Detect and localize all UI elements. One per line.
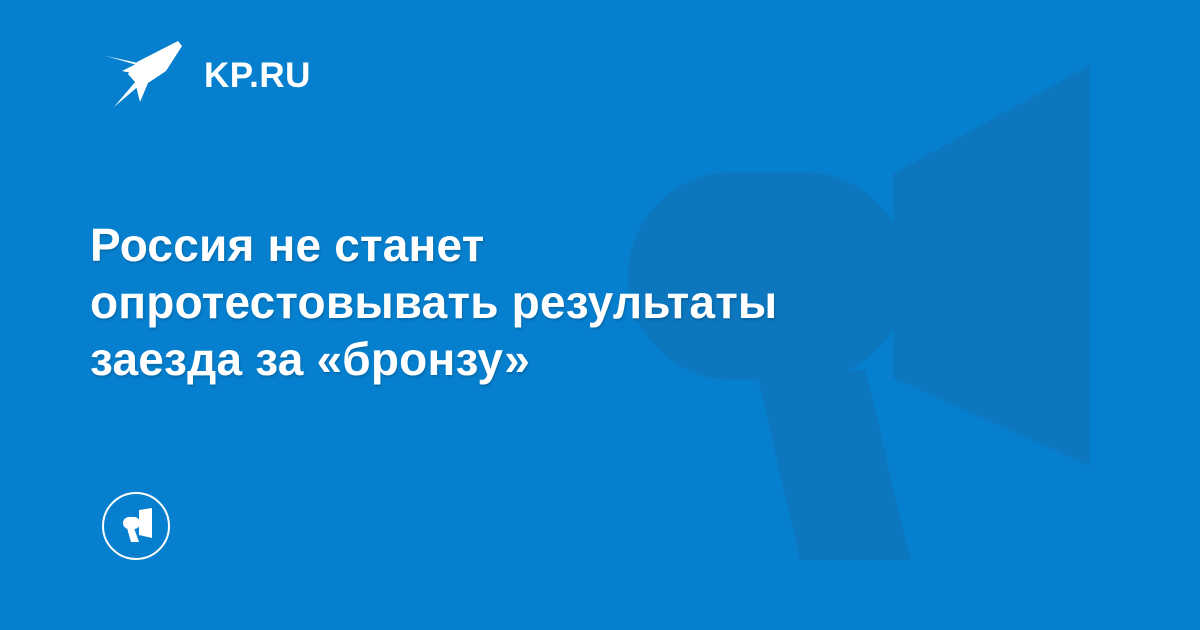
brand-name: KP.RU	[204, 58, 311, 93]
swallow-bird-icon	[104, 38, 184, 112]
social-share-card: KP.RU Россия не станет опротестовывать р…	[0, 0, 1200, 630]
brand-logo[interactable]: KP.RU	[104, 36, 311, 114]
megaphone-badge[interactable]	[102, 492, 170, 560]
headline-line-3: заезда за «бронзу»	[90, 331, 970, 388]
headline-line-1: Россия не станет	[90, 217, 970, 274]
headline-line-2: опротестовывать результаты	[90, 274, 970, 331]
megaphone-icon	[117, 508, 155, 544]
headline: Россия не станет опротестовывать результ…	[90, 217, 970, 388]
